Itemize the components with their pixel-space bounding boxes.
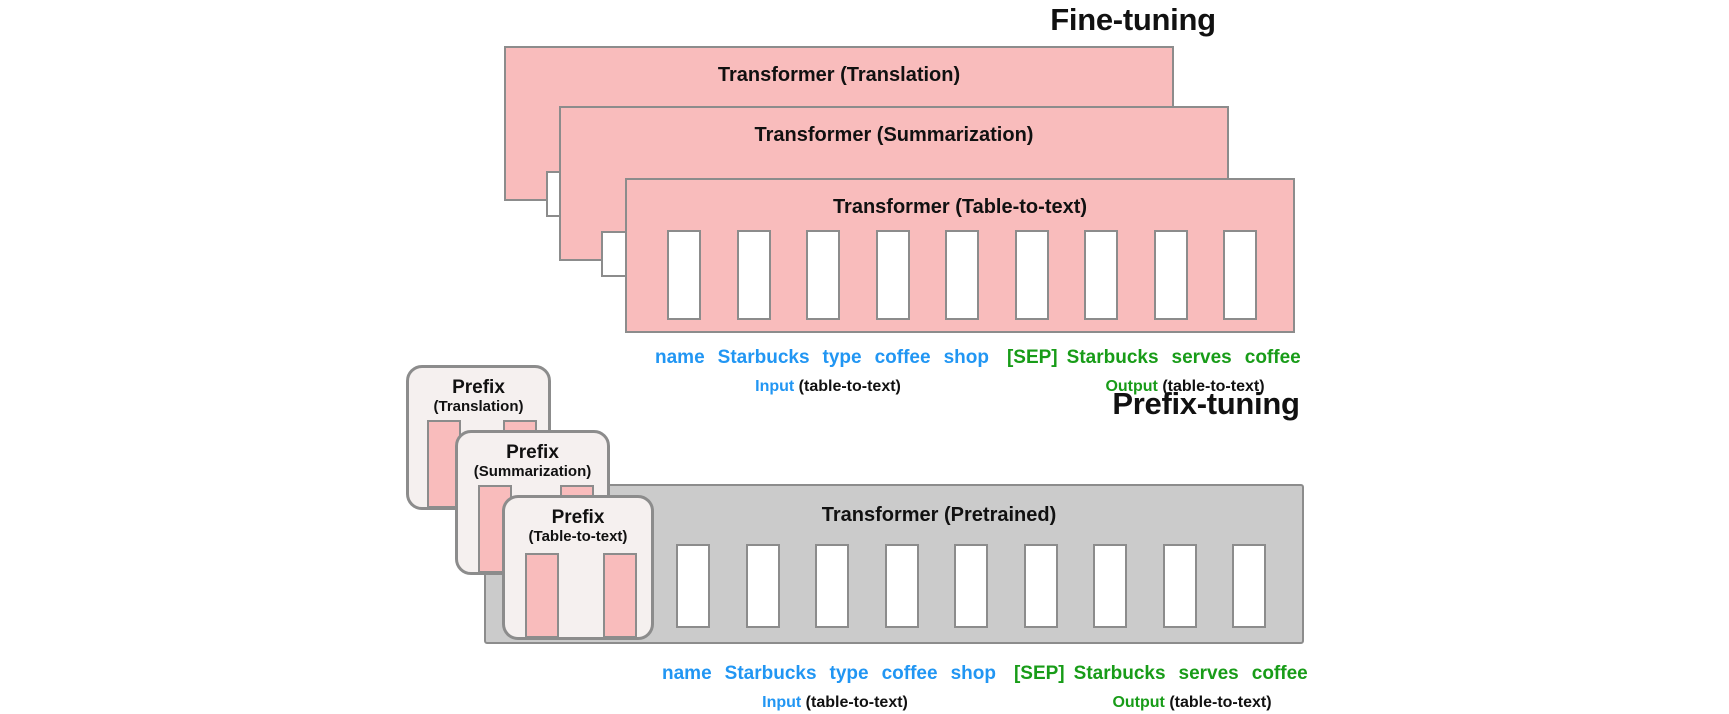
sequence-tokens-fine-tuning: name Starbucks type coffee shop [SEP] St… (655, 347, 1301, 369)
input-tag-rest: (table-to-text) (801, 694, 908, 711)
token-cells-table-to-text (667, 230, 1257, 320)
prefix-box-summarization-label: Prefix (Summarization) (458, 443, 607, 480)
input-label-prefix-tuning: Input (table-to-text) (762, 694, 908, 712)
token-cell (806, 230, 840, 320)
token-shop: shop (951, 663, 996, 685)
prefix-box-table-to-text: Prefix (Table-to-text) (502, 495, 654, 640)
input-tag: Input (755, 378, 794, 395)
input-tag-rest: (table-to-text) (794, 378, 901, 395)
prefix-title: Prefix (409, 378, 548, 398)
prefix-title: Prefix (458, 443, 607, 463)
output-tag-rest: (table-to-text) (1165, 694, 1272, 711)
transformer-slab-summarization-label: Transformer (Summarization) (561, 124, 1227, 147)
token-cell (676, 544, 710, 628)
prefix-box-translation-label: Prefix (Translation) (409, 378, 548, 415)
token-coffee: coffee (875, 347, 931, 369)
prefix-cells-table-to-text (525, 553, 637, 638)
token-cell (876, 230, 910, 320)
prefix-cell (525, 553, 559, 638)
token-cell (1223, 230, 1257, 320)
token-out-serves: serves (1172, 347, 1232, 369)
output-label-prefix-tuning: Output (table-to-text) (1112, 694, 1271, 712)
token-cell (1093, 544, 1127, 628)
fine-tuning-heading: Fine-tuning (1050, 2, 1215, 38)
token-cell (1024, 544, 1058, 628)
token-type: type (823, 347, 862, 369)
prefix-subtitle: (Table-to-text) (505, 528, 651, 545)
token-cell (945, 230, 979, 320)
transformer-slab-table-to-text-label: Transformer (Table-to-text) (627, 196, 1293, 219)
input-tag: Input (762, 694, 801, 711)
token-cell (1232, 544, 1266, 628)
token-out-serves: serves (1179, 663, 1239, 685)
token-out-starbucks: Starbucks (1067, 347, 1159, 369)
token-separator: [SEP] (1007, 347, 1058, 369)
sequence-tokens-prefix-tuning: name Starbucks type coffee shop [SEP] St… (662, 663, 1308, 685)
prefix-box-table-to-text-label: Prefix (Table-to-text) (505, 508, 651, 545)
transformer-slab-translation-label: Transformer (Translation) (506, 64, 1172, 87)
token-out-coffee: coffee (1245, 347, 1301, 369)
token-cell (815, 544, 849, 628)
token-shop: shop (944, 347, 989, 369)
prefix-title: Prefix (505, 508, 651, 528)
prefix-subtitle: (Translation) (409, 398, 548, 415)
prefix-cell (603, 553, 637, 638)
token-cell (1084, 230, 1118, 320)
token-out-coffee: coffee (1252, 663, 1308, 685)
token-name: name (662, 663, 712, 685)
transformer-pretrained-label: Transformer (Pretrained) (576, 504, 1302, 527)
token-separator: [SEP] (1014, 663, 1065, 685)
token-cell (737, 230, 771, 320)
prefix-subtitle: (Summarization) (458, 463, 607, 480)
token-cell (667, 230, 701, 320)
token-starbucks: Starbucks (725, 663, 817, 685)
token-out-starbucks: Starbucks (1074, 663, 1166, 685)
token-cell (885, 544, 919, 628)
output-tag: Output (1112, 694, 1164, 711)
token-cell (1154, 230, 1188, 320)
token-cell (954, 544, 988, 628)
prefix-tuning-heading: Prefix-tuning (1112, 386, 1299, 422)
token-cells-pretrained (676, 544, 1266, 628)
token-cell (1015, 230, 1049, 320)
token-coffee: coffee (882, 663, 938, 685)
token-name: name (655, 347, 705, 369)
token-cell (1163, 544, 1197, 628)
transformer-slab-table-to-text: Transformer (Table-to-text) (625, 178, 1295, 333)
token-type: type (830, 663, 869, 685)
input-label-fine-tuning: Input (table-to-text) (755, 378, 901, 396)
diagram-canvas: Fine-tuning Transformer (Translation) Tr… (0, 0, 1729, 714)
token-cell (746, 544, 780, 628)
token-starbucks: Starbucks (718, 347, 810, 369)
